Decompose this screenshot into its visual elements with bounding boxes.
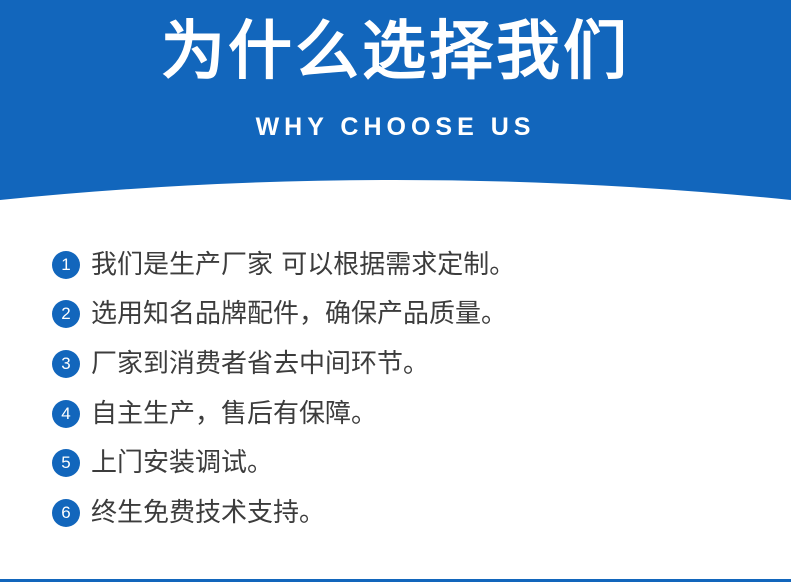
list-item-label: 终生免费技术支持。 [91, 498, 325, 528]
bottom-accent-rule [0, 579, 791, 582]
list-item: 4 自主生产，售后有保障。 [0, 389, 791, 439]
list-item: 5 上门安装调试。 [0, 438, 791, 488]
list-item: 6 终生免费技术支持。 [0, 488, 791, 538]
banner-header: 为什么选择我们 WHY CHOOSE US [0, 0, 791, 202]
header-arc-shape [0, 0, 791, 202]
number-badge-icon: 4 [52, 400, 80, 428]
number-badge-icon: 5 [52, 449, 80, 477]
list-item: 3 厂家到消费者省去中间环节。 [0, 339, 791, 389]
list-item-label: 上门安装调试。 [91, 448, 273, 478]
benefits-list: 1 我们是生产厂家 可以根据需求定制。 2 选用知名品牌配件，确保产品质量。 3… [0, 240, 791, 538]
list-item-label: 自主生产，售后有保障。 [91, 399, 377, 429]
number-badge-icon: 2 [52, 300, 80, 328]
list-item: 2 选用知名品牌配件，确保产品质量。 [0, 290, 791, 340]
list-item-label: 厂家到消费者省去中间环节。 [91, 349, 429, 379]
number-badge-icon: 6 [52, 499, 80, 527]
why-choose-us-banner: 为什么选择我们 WHY CHOOSE US 1 我们是生产厂家 可以根据需求定制… [0, 0, 791, 584]
number-badge-icon: 1 [52, 251, 80, 279]
list-item-label: 我们是生产厂家 可以根据需求定制。 [91, 250, 515, 280]
list-item: 1 我们是生产厂家 可以根据需求定制。 [0, 240, 791, 290]
number-badge-icon: 3 [52, 350, 80, 378]
list-item-label: 选用知名品牌配件，确保产品质量。 [91, 299, 507, 329]
